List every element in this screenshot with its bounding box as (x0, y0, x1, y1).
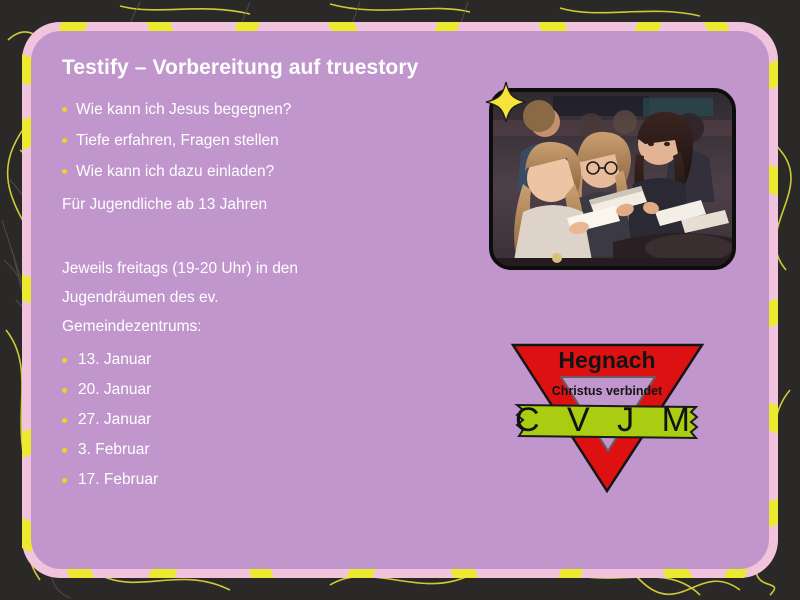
content-column: Testify – Vorbereitung auf truestory Wie… (62, 56, 482, 495)
list-item: Wie kann ich Jesus begegnen? (62, 94, 482, 125)
slide-canvas: Testify – Vorbereitung auf truestory Wie… (0, 0, 800, 600)
page-title: Testify – Vorbereitung auf truestory (62, 56, 482, 80)
list-item: 17. Februar (62, 465, 482, 495)
schedule-line: Jeweils freitags (19-20 Uhr) in den (62, 254, 482, 283)
logo-motto: Christus verbindet (552, 384, 663, 398)
schedule-line: Jugendräumen des ev. (62, 283, 482, 312)
list-item: 27. Januar (62, 405, 482, 435)
date-list: 13. Januar 20. Januar 27. Januar 3. Febr… (62, 345, 482, 495)
schedule-line: Gemeindezentrums: (62, 312, 482, 341)
list-item: 20. Januar (62, 375, 482, 405)
age-note: Für Jugendliche ab 13 Jahren (62, 189, 482, 220)
list-item: 3. Februar (62, 435, 482, 465)
cvjm-logo: Hegnach Christus verbindet C V J M (505, 335, 710, 495)
list-item: Wie kann ich dazu einladen? (62, 156, 482, 187)
list-item: Tiefe erfahren, Fragen stellen (62, 125, 482, 156)
question-list: Wie kann ich Jesus begegnen? Tiefe erfah… (62, 94, 482, 187)
logo-banner-text: C V J M (515, 401, 699, 439)
list-item: 13. Januar (62, 345, 482, 375)
sparkle-icon (484, 80, 528, 124)
schedule-block: Jeweils freitags (19-20 Uhr) in den Juge… (62, 254, 482, 341)
logo-top-text: Hegnach (558, 347, 655, 373)
